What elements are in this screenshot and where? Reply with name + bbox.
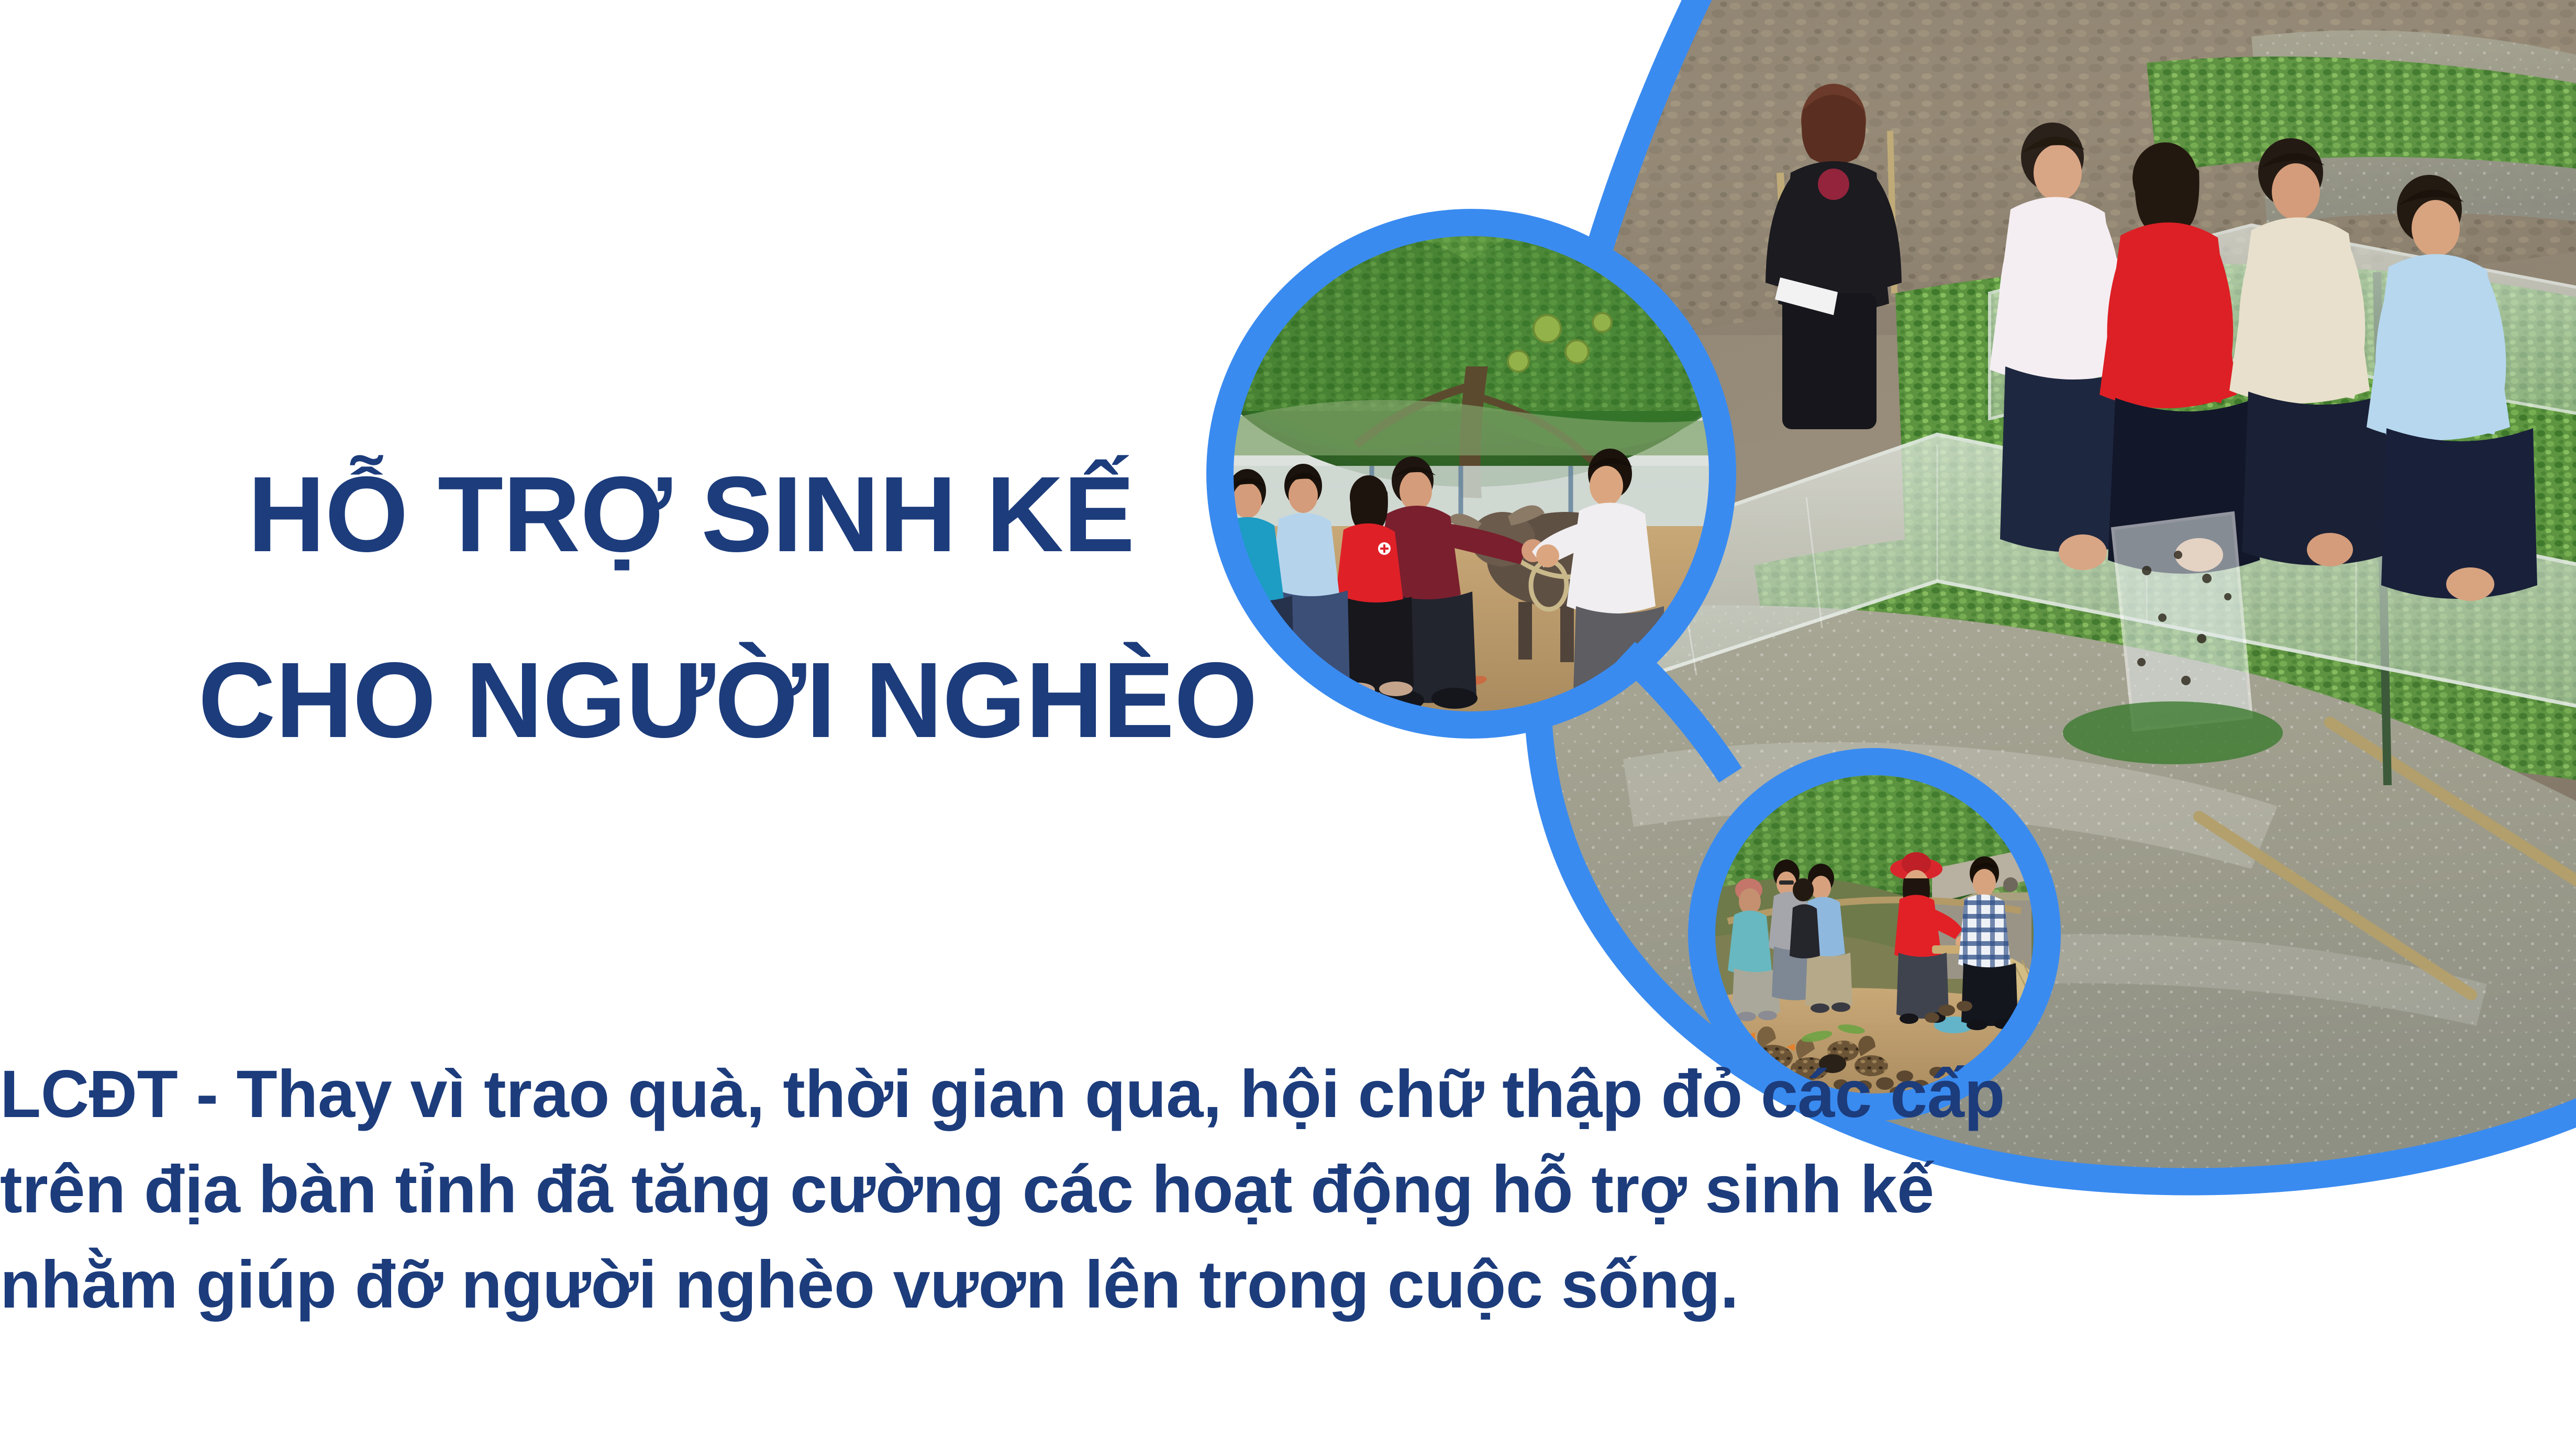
artwork-layer	[0, 0, 2576, 1451]
poster-canvas: HỖ TRỢ SINH KẾ CHO NGƯỜI NGHÈO LCĐT - Th…	[0, 0, 2576, 1451]
artwork-svg	[0, 0, 2576, 1451]
